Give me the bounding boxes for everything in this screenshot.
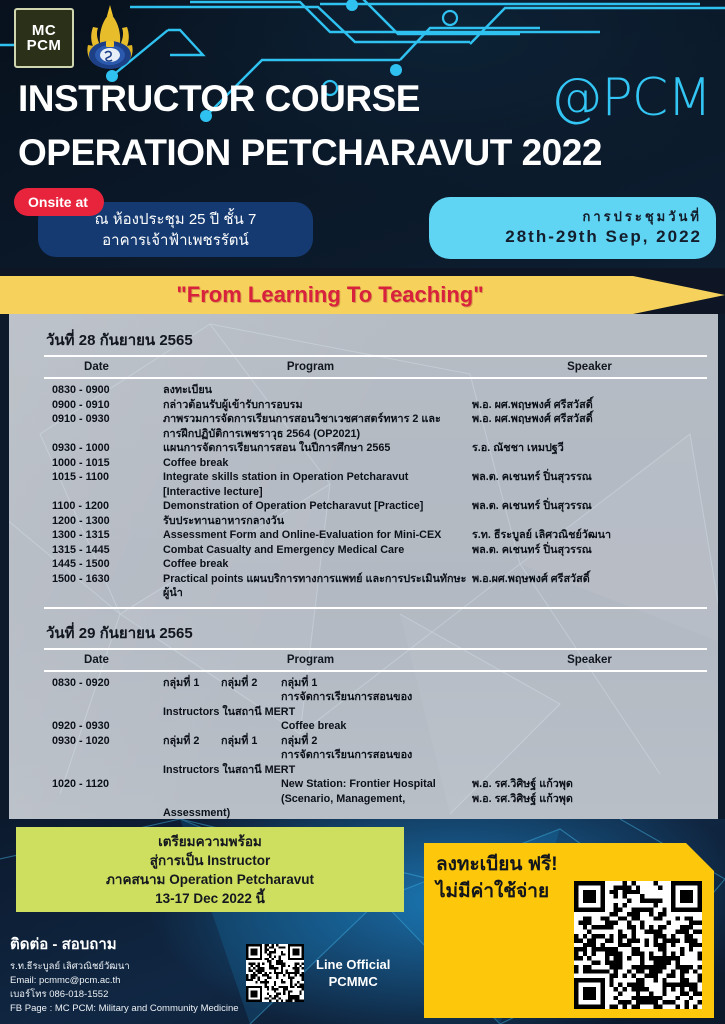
- row-program-text: กลุ่มที่ 1: [281, 677, 317, 689]
- row-time: 0830 - 0900: [44, 383, 157, 398]
- table-row: 1020 - 1120New Station: Frontier Hospita…: [44, 777, 707, 792]
- row-speaker: พ.อ. ผศ.พฤษพงศ์ ศรีสวัสดิ์: [468, 412, 707, 427]
- row-program-text: การจัดการเรียนการสอนของ Instructors ในสถ…: [163, 749, 412, 776]
- table-row: การจัดการเรียนการสอนของ Instructors ในสถ…: [44, 748, 707, 777]
- field-training-line3: ภาคสนาม Operation Petcharavut: [106, 870, 314, 889]
- venue-line1: ณ ห้องประชุม 25 ปี ชั้น 7: [95, 209, 257, 230]
- body-right-edge: [718, 314, 725, 819]
- contact-facebook[interactable]: FB Page : MC PCM: Military and Community…: [10, 1002, 239, 1016]
- venue-line2: อาคารเจ้าฟ้าเพชรรัตน์: [102, 230, 249, 251]
- line-official-qr-code-icon[interactable]: [246, 944, 304, 1002]
- row-speaker: [468, 719, 707, 734]
- row-time: 1015 - 1100: [44, 470, 157, 499]
- group-label: กลุ่มที่ 1: [163, 676, 221, 691]
- table-row: 0920 - 0930Coffee break: [44, 719, 707, 734]
- row-program: Demonstration of Operation Petcharavut […: [157, 499, 468, 514]
- row-program-text: Coffee break: [281, 720, 346, 732]
- row-program: Coffee break: [157, 719, 468, 734]
- day2-rule-top: [44, 648, 707, 650]
- event-date-english: 28th-29th Sep, 2022: [505, 226, 702, 248]
- mc-pcm-logo-line1: MC: [32, 23, 56, 38]
- table-row: 1445 - 1500Coffee break: [44, 557, 707, 572]
- table-row: 0830 - 0900ลงทะเบียน: [44, 383, 707, 398]
- row-speaker: [468, 676, 707, 691]
- mc-pcm-logo-line2: PCM: [27, 38, 62, 53]
- contact-block: ติดต่อ - สอบถาม ร.ท.ธีระบูลย์ เลิศวณิชย์…: [10, 932, 239, 1016]
- row-speaker: พล.ต. คเชนทร์ ปิ่นสุวรรณ: [468, 543, 707, 558]
- line-official-line1: Line Official: [316, 956, 390, 973]
- line-official-label: Line Official PCMMC: [316, 956, 390, 990]
- table-row: 1015 - 1100Integrate skills station in O…: [44, 470, 707, 499]
- field-training-line4: 13-17 Dec 2022 นี้: [155, 889, 265, 908]
- day1-header-date: Date: [44, 361, 149, 373]
- day1-title: วันที่ 28 กันยายน 2565: [46, 328, 707, 352]
- row-program: แผนการจัดการเรียนการสอน ในปีการศึกษา 256…: [157, 441, 468, 456]
- mc-pcm-logo: MC PCM: [14, 8, 74, 68]
- contact-phone: เบอร์โทร 086-018-1552: [10, 988, 239, 1002]
- row-time: 0930 - 1000: [44, 441, 157, 456]
- row-program-text: New Station: Frontier Hospital: [281, 778, 436, 790]
- row-time: [44, 427, 157, 442]
- day1-table-header: Date Program Speaker: [44, 358, 707, 376]
- row-speaker: [468, 734, 707, 749]
- line-official-line2: PCMMC: [316, 973, 390, 990]
- table-row: การจัดการเรียนการสอนของ Instructors ในสถ…: [44, 690, 707, 719]
- table-row: 0830 - 0920กลุ่มที่ 1กลุ่มที่ 2กลุ่มที่ …: [44, 676, 707, 691]
- table-row: 0900 - 0910กล่าวต้อนรับผู้เข้ารับการอบรม…: [44, 398, 707, 413]
- field-training-notice: เตรียมความพร้อม สู่การเป็น Instructor ภา…: [16, 827, 404, 912]
- row-speaker: [468, 514, 707, 529]
- row-speaker: [468, 427, 707, 442]
- field-training-line1: เตรียมความพร้อม: [158, 832, 262, 851]
- row-groups: กลุ่มที่ 1กลุ่มที่ 2: [163, 676, 281, 691]
- row-program: การฝึกปฏิบัติการเพชราวุธ 2564 (OP2021): [157, 427, 468, 442]
- row-speaker: [468, 690, 707, 719]
- row-program: กลุ่มที่ 1กลุ่มที่ 2กลุ่มที่ 1: [157, 676, 468, 691]
- row-speaker: พ.อ. รศ.วิศิษฐ์ แก้วพุด: [468, 792, 707, 820]
- row-time: 0900 - 0910: [44, 398, 157, 413]
- row-time: 1000 - 1015: [44, 456, 157, 471]
- table-row: 0910 - 0930ภาพรวมการจัดการเรียนการสอนวิช…: [44, 412, 707, 427]
- table-row: 1200 - 1300รับประทานอาหารกลางวัน: [44, 514, 707, 529]
- event-date-thai: การประชุมวันที่: [582, 208, 702, 226]
- row-program-text: การจัดการเรียนการสอนของ Instructors ในสถ…: [163, 691, 412, 718]
- row-time: 1500 - 1630: [44, 572, 157, 601]
- row-program: Combat Casualty and Emergency Medical Ca…: [157, 543, 468, 558]
- row-time: [44, 690, 157, 719]
- row-speaker: [468, 456, 707, 471]
- schedule-tables: วันที่ 28 กันยายน 2565 Date Program Spea…: [0, 314, 725, 819]
- row-speaker: ร.ท. ธีระบูลย์ เลิศวณิชย์วัฒนา: [468, 528, 707, 543]
- table-row: 1100 - 1200Demonstration of Operation Pe…: [44, 499, 707, 514]
- table-row: 1300 - 1315Assessment Form and Online-Ev…: [44, 528, 707, 543]
- row-time: 1300 - 1315: [44, 528, 157, 543]
- row-program: Assessment Form and Online-Evaluation fo…: [157, 528, 468, 543]
- poster-root: MC PCM INSTRUCTOR COURSE @PCM OPERATION …: [0, 0, 725, 1024]
- day2-table-header: Date Program Speaker: [44, 651, 707, 669]
- row-program: การจัดการเรียนการสอนของ Instructors ในสถ…: [157, 690, 468, 719]
- day1-header-speaker: Speaker: [472, 361, 707, 373]
- row-program: Coffee break: [157, 557, 468, 572]
- registration-qr-code-icon[interactable]: [574, 881, 702, 1009]
- day1-header-program: Program: [149, 361, 472, 373]
- row-program: รับประทานอาหารกลางวัน: [157, 514, 468, 529]
- row-program: กลุ่มที่ 2กลุ่มที่ 1กลุ่มที่ 2: [157, 734, 468, 749]
- table-row: 0930 - 1020กลุ่มที่ 2กลุ่มที่ 1กลุ่มที่ …: [44, 734, 707, 749]
- day2-header-speaker: Speaker: [472, 654, 707, 666]
- row-program: Coffee break: [157, 456, 468, 471]
- day1-rule-top: [44, 355, 707, 357]
- group-label: กลุ่มที่ 2: [221, 676, 279, 691]
- body-left-edge: [0, 314, 9, 819]
- day2-rule-bottom: [44, 670, 707, 672]
- row-program: การจัดการเรียนการสอนของ Instructors ในสถ…: [157, 748, 468, 777]
- row-program: Integrate skills station in Operation Pe…: [157, 470, 468, 499]
- contact-name: ร.ท.ธีระบูลย์ เลิศวณิชย์วัฒนา: [10, 960, 239, 974]
- row-time: 1200 - 1300: [44, 514, 157, 529]
- table-row: 1000 - 1015Coffee break: [44, 456, 707, 471]
- row-time: 0910 - 0930: [44, 412, 157, 427]
- day1-rule-bottom: [44, 377, 707, 379]
- table-row: 1500 - 1630Practical points แผนบริการทาง…: [44, 572, 707, 601]
- row-speaker: พล.ต. คเชนทร์ ปิ่นสุวรรณ: [468, 470, 707, 499]
- row-groups: กลุ่มที่ 2กลุ่มที่ 1: [163, 734, 281, 749]
- row-time: 1445 - 1500: [44, 557, 157, 572]
- row-speaker: [468, 383, 707, 398]
- row-time: 0930 - 1020: [44, 734, 157, 749]
- row-speaker: พ.อ.ผศ.พฤษพงศ์ ศรีสวัสดิ์: [468, 572, 707, 601]
- day1-rule-end: [44, 607, 707, 609]
- slogan-text: "From Learning To Teaching": [0, 276, 660, 314]
- row-time: 1315 - 1445: [44, 543, 157, 558]
- group-label: กลุ่มที่ 2: [163, 734, 221, 749]
- day2-header-date: Date: [44, 654, 149, 666]
- line-official-block: Line Official PCMMC: [246, 944, 390, 1002]
- row-program: กล่าวต้อนรับผู้เข้ารับการอบรม: [157, 398, 468, 413]
- row-speaker: [468, 557, 707, 572]
- row-time: 1100 - 1200: [44, 499, 157, 514]
- table-row: (Scenario, Management, Assessment)พ.อ. ร…: [44, 792, 707, 820]
- table-row: การฝึกปฏิบัติการเพชราวุธ 2564 (OP2021): [44, 427, 707, 442]
- poster-header: MC PCM INSTRUCTOR COURSE @PCM OPERATION …: [0, 0, 725, 268]
- field-training-line2: สู่การเป็น Instructor: [150, 851, 270, 870]
- day2-rows: 0830 - 0920กลุ่มที่ 1กลุ่มที่ 2กลุ่มที่ …: [44, 676, 707, 820]
- registration-line1: ลงทะเบียน ฟรี!: [436, 851, 601, 878]
- registration-card[interactable]: ลงทะเบียน ฟรี! ไม่มีค่าใช้จ่าย: [424, 843, 714, 1018]
- onsite-badge: Onsite at: [14, 188, 104, 216]
- row-program: ลงทะเบียน: [157, 383, 468, 398]
- row-speaker: พ.อ. รศ.วิศิษฐ์ แก้วพุด: [468, 777, 707, 792]
- table-row: 0930 - 1000แผนการจัดการเรียนการสอน ในปีก…: [44, 441, 707, 456]
- contact-email[interactable]: Email: pcmmc@pcm.ac.th: [10, 974, 239, 988]
- row-program: New Station: Frontier Hospital: [157, 777, 468, 792]
- contact-heading: ติดต่อ - สอบถาม: [10, 932, 239, 956]
- royal-emblem-icon: [80, 3, 140, 73]
- row-program-text: (Scenario, Management, Assessment): [163, 793, 405, 820]
- day1-rows: 0830 - 0900ลงทะเบียน0900 - 0910กล่าวต้อน…: [44, 383, 707, 601]
- row-program: (Scenario, Management, Assessment): [157, 792, 468, 820]
- row-time: 0920 - 0930: [44, 719, 157, 734]
- row-speaker: [468, 748, 707, 777]
- group-label: กลุ่มที่ 1: [221, 734, 279, 749]
- row-time: 1020 - 1120: [44, 777, 157, 792]
- day2-title: วันที่ 29 กันยายน 2565: [46, 621, 707, 645]
- page-title-line1: INSTRUCTOR COURSE: [18, 78, 420, 120]
- row-program: Practical points แผนบริการทางการแพทย์ แล…: [157, 572, 468, 601]
- day2-header-program: Program: [149, 654, 472, 666]
- page-title-line2: OPERATION PETCHARAVUT 2022: [18, 132, 602, 174]
- event-date-badge: การประชุมวันที่ 28th-29th Sep, 2022: [429, 197, 716, 259]
- row-time: 0830 - 0920: [44, 676, 157, 691]
- row-speaker: พ.อ. ผศ.พฤษพงศ์ ศรีสวัสดิ์: [468, 398, 707, 413]
- row-time: [44, 748, 157, 777]
- schedule-section: วันที่ 28 กันยายน 2565 Date Program Spea…: [0, 314, 725, 819]
- row-program: ภาพรวมการจัดการเรียนการสอนวิชาเวชศาสตร์ท…: [157, 412, 468, 427]
- row-program-text: กลุ่มที่ 2: [281, 735, 317, 747]
- slogan-banner: "From Learning To Teaching": [0, 276, 725, 314]
- row-time: [44, 792, 157, 820]
- row-speaker: ร.อ. ณัชชา เหมปฐวี: [468, 441, 707, 456]
- page-title-at-pcm: @PCM: [550, 68, 711, 128]
- row-speaker: พล.ต. คเชนทร์ ปิ่นสุวรรณ: [468, 499, 707, 514]
- table-row: 1315 - 1445Combat Casualty and Emergency…: [44, 543, 707, 558]
